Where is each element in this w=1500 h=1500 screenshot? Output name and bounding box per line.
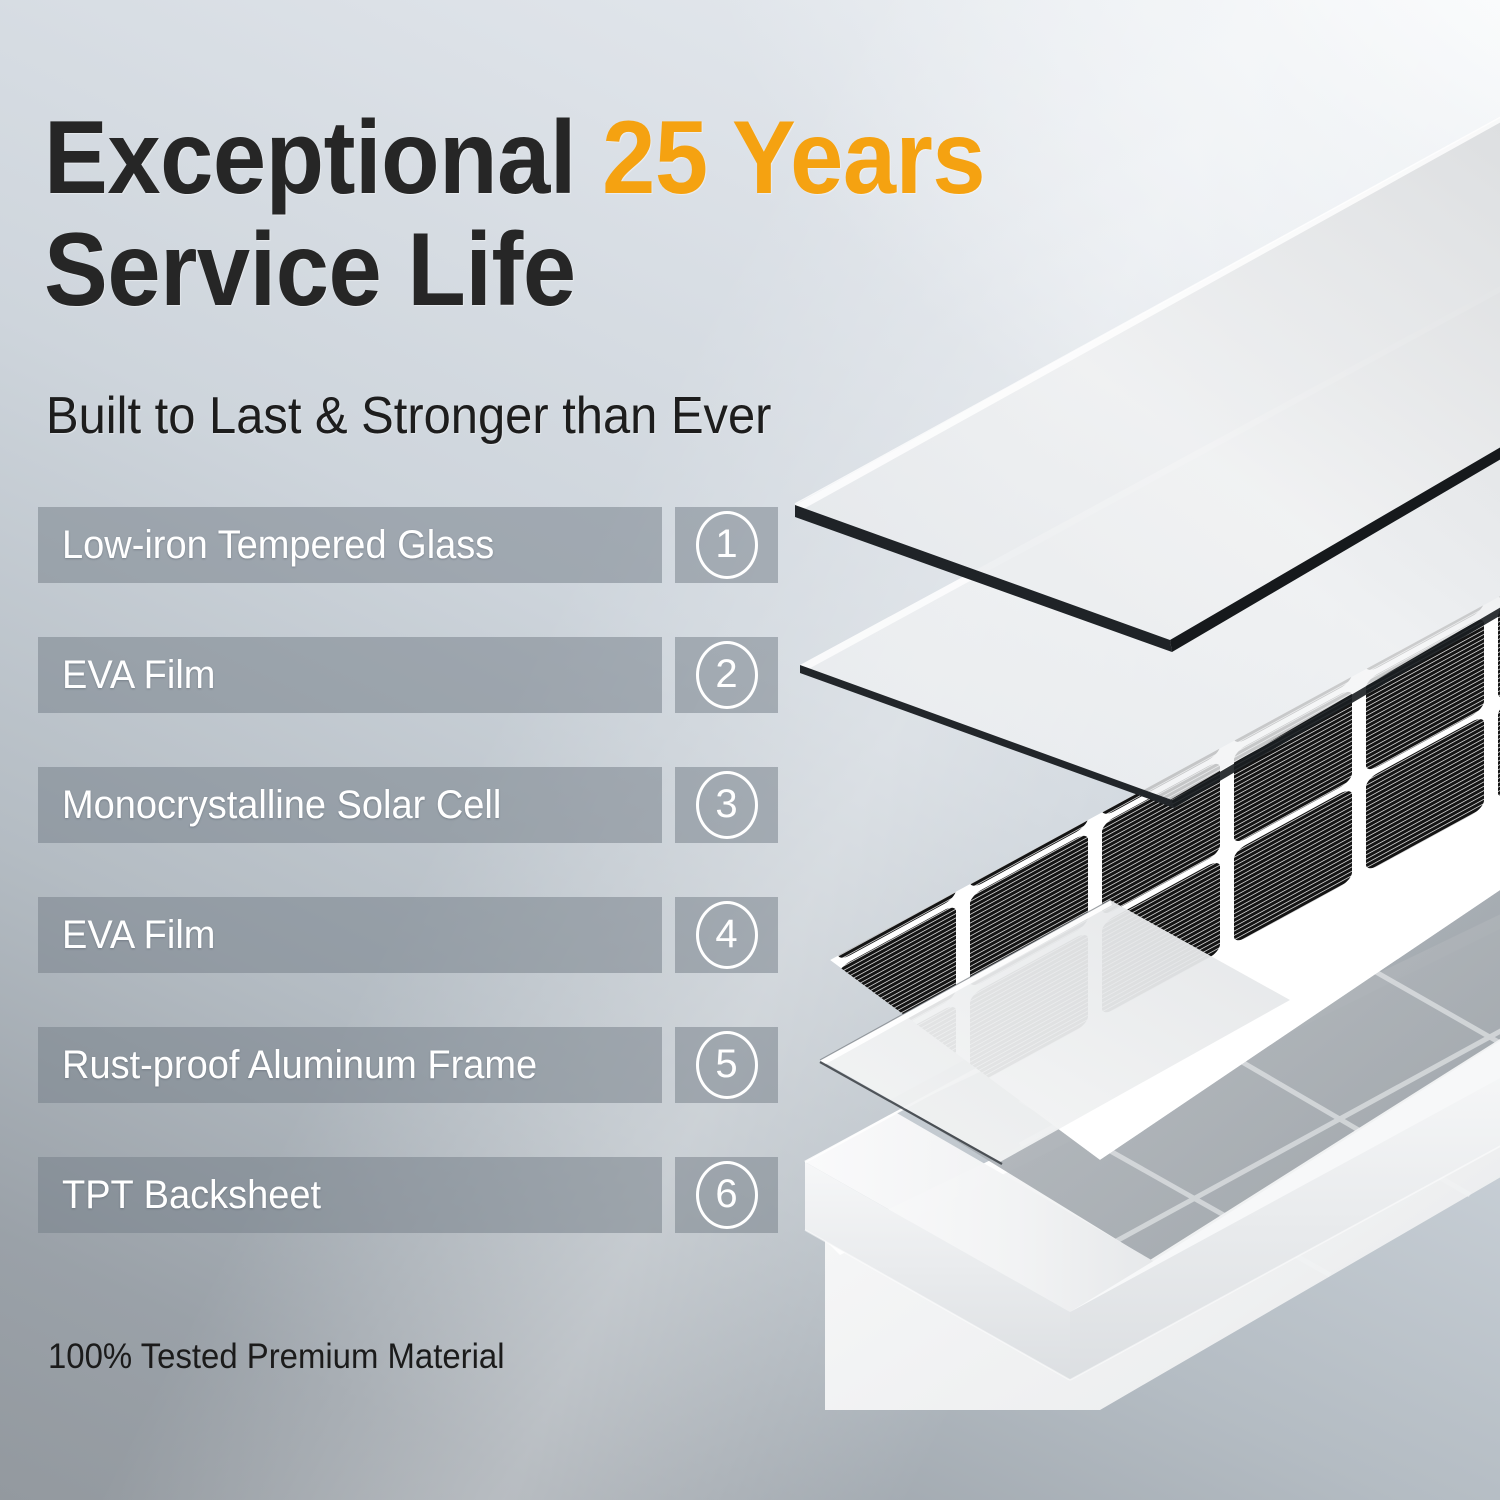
circle-outline-icon: 3: [696, 771, 758, 839]
layer-label-bar: Low-iron Tempered Glass: [38, 507, 662, 583]
layer-number-text: 6: [715, 1174, 737, 1214]
headline: Exceptional 25 Years Service Life: [44, 108, 1164, 322]
layer-number-badge: 6: [675, 1157, 778, 1233]
layer-row[interactable]: EVA Film 4: [38, 897, 783, 973]
layer-label-text: TPT Backsheet: [62, 1173, 321, 1218]
layer-label-text: Monocrystalline Solar Cell: [62, 783, 501, 828]
layer-label-bar: EVA Film: [38, 637, 662, 713]
layer-number-text: 3: [715, 784, 737, 824]
layer-label-text: Rust-proof Aluminum Frame: [62, 1043, 537, 1088]
circle-outline-icon: 1: [696, 511, 758, 579]
headline-main-text: Exceptional: [44, 100, 576, 216]
circle-outline-icon: 4: [696, 901, 758, 969]
layer-label-bar: TPT Backsheet: [38, 1157, 662, 1233]
layer-row[interactable]: Monocrystalline Solar Cell 3: [38, 767, 783, 843]
layer-number-badge: 4: [675, 897, 778, 973]
layer-row[interactable]: Rust-proof Aluminum Frame 5: [38, 1027, 783, 1103]
headline-line-2: Service Life: [44, 220, 1074, 322]
aluminum-frame-layer: [805, 730, 1500, 1380]
circle-outline-icon: 2: [696, 641, 758, 709]
product-infographic: Exceptional 25 Years Service Life Built …: [0, 0, 1500, 1500]
tpt-backsheet-layer: [825, 900, 1500, 1410]
layer-number-badge: 5: [675, 1027, 778, 1103]
layer-label-bar: Monocrystalline Solar Cell: [38, 767, 662, 843]
circle-outline-icon: 6: [696, 1161, 758, 1229]
headline-line-1: Exceptional 25 Years: [44, 108, 1074, 210]
circle-outline-icon: 5: [696, 1031, 758, 1099]
layer-number-text: 4: [715, 914, 737, 954]
layer-row[interactable]: EVA Film 2: [38, 637, 783, 713]
layer-label-text: EVA Film: [62, 653, 215, 698]
layer-list: Low-iron Tempered Glass 1 EVA Film 2 Mon…: [38, 507, 783, 1233]
layer-label-bar: EVA Film: [38, 897, 662, 973]
layer-row[interactable]: TPT Backsheet 6: [38, 1157, 783, 1233]
layer-number-badge: 3: [675, 767, 778, 843]
exploded-solar-panel-diagram: [770, 400, 1500, 1410]
eva-film-top-layer: [800, 270, 1500, 808]
layer-label-bar: Rust-proof Aluminum Frame: [38, 1027, 662, 1103]
layer-number-badge: 2: [675, 637, 778, 713]
headline-accent-text: 25 Years: [602, 100, 985, 216]
layer-row[interactable]: Low-iron Tempered Glass 1: [38, 507, 783, 583]
footnote: 100% Tested Premium Material: [48, 1337, 505, 1377]
layer-number-text: 2: [715, 654, 737, 694]
layer-number-text: 5: [715, 1044, 737, 1084]
layer-label-text: Low-iron Tempered Glass: [62, 523, 494, 568]
layer-number-badge: 1: [675, 507, 778, 583]
eva-film-bottom-layer: [820, 900, 1290, 1164]
layer-label-text: EVA Film: [62, 913, 215, 958]
layer-number-text: 1: [715, 524, 737, 564]
subheadline: Built to Last & Stronger than Ever: [46, 386, 771, 446]
